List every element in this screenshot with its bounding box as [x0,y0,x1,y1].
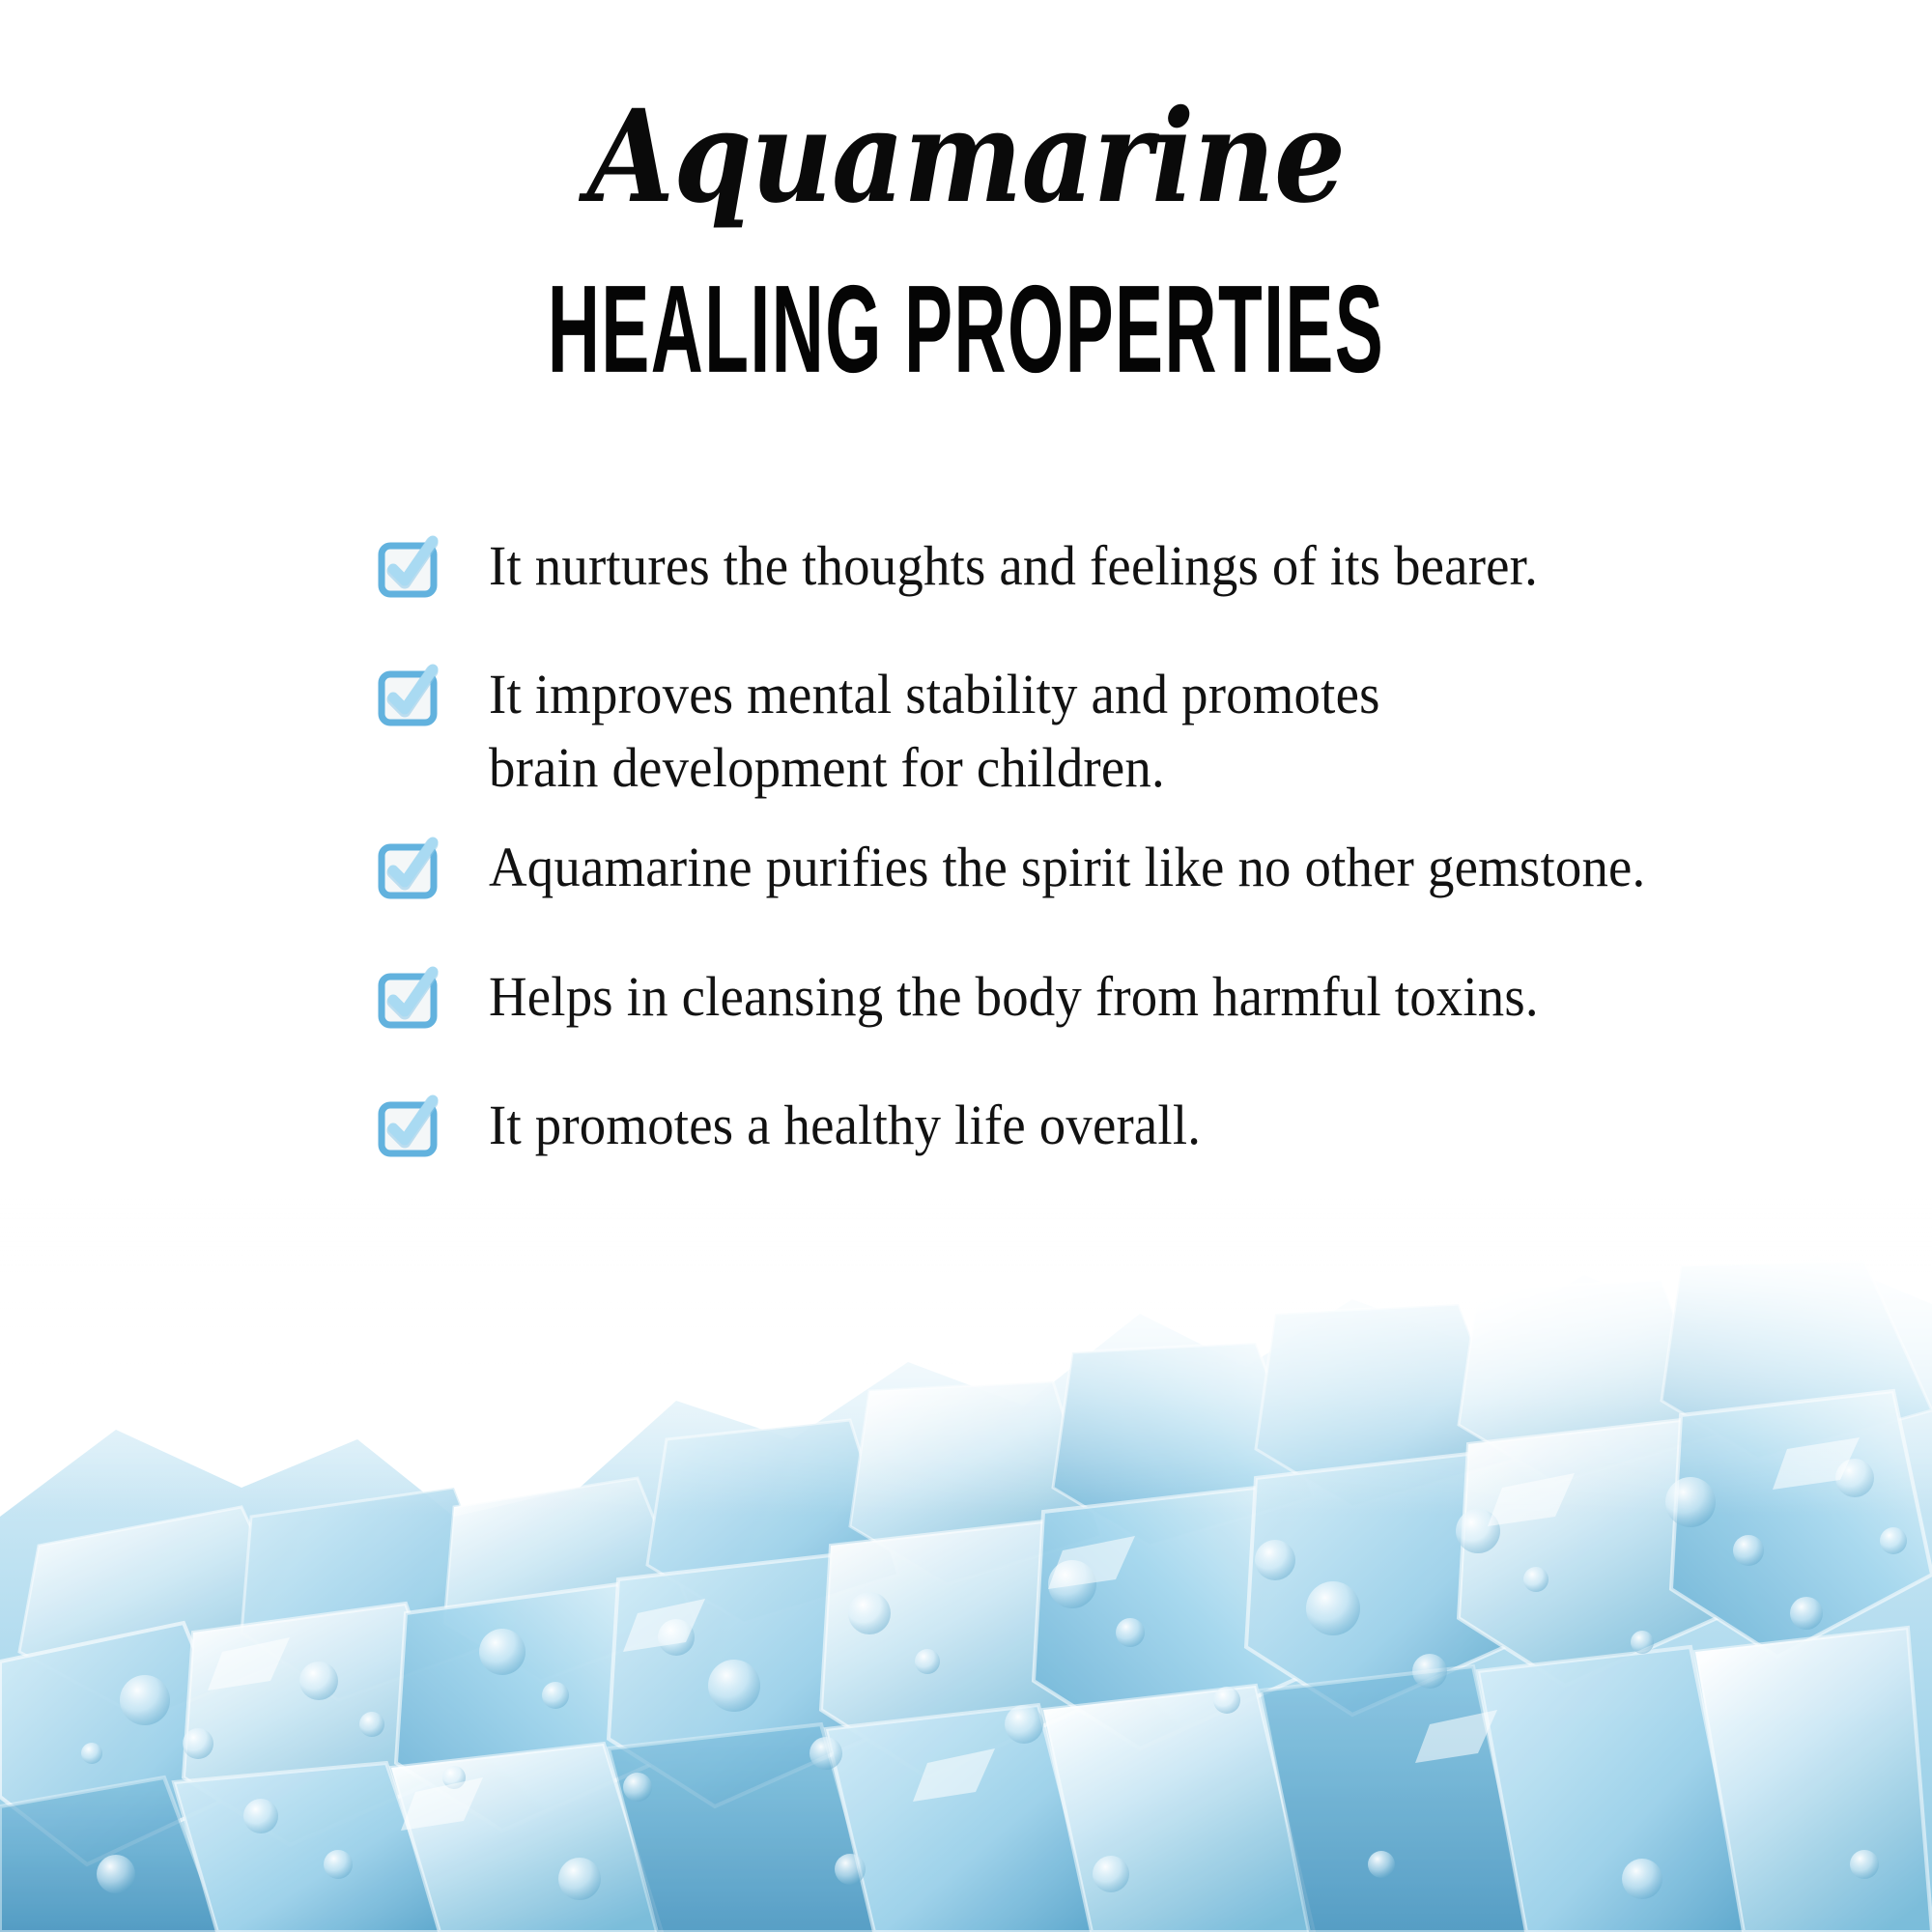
list-item-label: It nurtures the thoughts and feelings of… [489,529,1538,602]
list-item-label: Aquamarine purifies the spirit like no o… [489,831,1645,903]
list-item-label: It promotes a healthy life overall. [489,1089,1201,1161]
list-item[interactable]: Aquamarine purifies the spirit like no o… [379,831,1847,903]
list-item-label: Helps in cleansing the body from harmful… [489,960,1539,1033]
page-title: Aquamarine [116,93,1816,223]
list-item[interactable]: Helps in cleansing the body from harmful… [379,960,1847,1033]
list-item[interactable]: It promotes a healthy life overall. [379,1089,1847,1161]
poster-canvas: Aquamarine HEALING PROPERTIES It nurture… [0,0,1932,1932]
checked-checkbox-icon[interactable] [379,669,440,725]
page-subtitle: HEALING PROPERTIES [270,268,1662,392]
list-item[interactable]: It nurtures the thoughts and feelings of… [379,529,1847,602]
checked-checkbox-icon[interactable] [379,842,440,898]
list-item[interactable]: It improves mental stability and promote… [379,658,1847,804]
checked-checkbox-icon[interactable] [379,541,440,597]
checked-checkbox-icon[interactable] [379,972,440,1028]
ice-cubes-photo [0,1198,1932,1932]
checked-checkbox-icon[interactable] [379,1100,440,1156]
healing-properties-list: It nurtures the thoughts and feelings of… [379,529,1847,1217]
header-block: Aquamarine HEALING PROPERTIES [0,93,1932,368]
list-item-label: It improves mental stability and promote… [489,658,1380,804]
